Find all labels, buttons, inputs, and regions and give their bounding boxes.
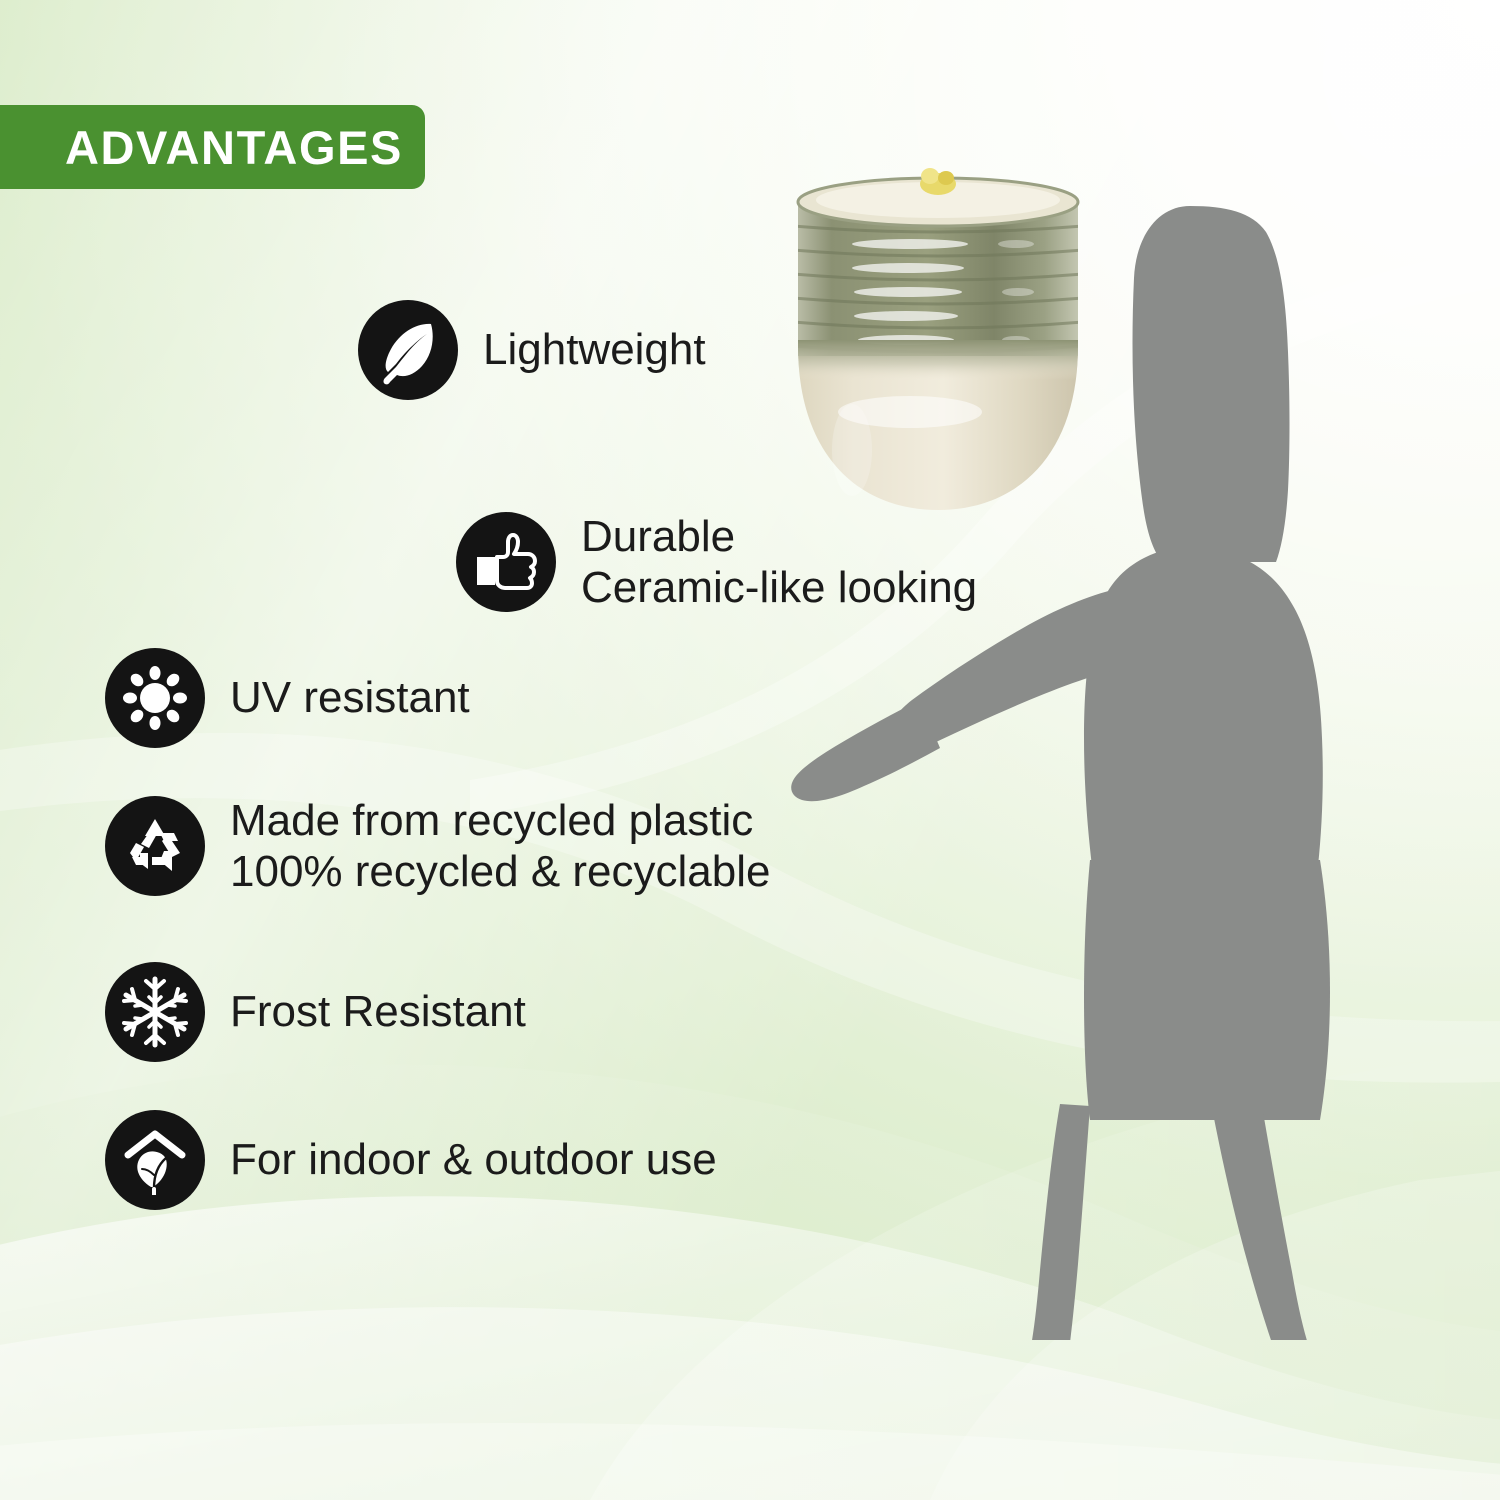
product-scene	[760, 160, 1500, 1340]
feature-label: Durable Ceramic-like looking	[581, 511, 977, 613]
feature-row-lightweight: Lightweight	[358, 300, 706, 400]
feature-row-frost: Frost Resistant	[105, 962, 526, 1062]
planter-pot	[794, 168, 1082, 510]
pot-flower-accent	[920, 168, 956, 195]
feature-label: Lightweight	[483, 324, 706, 375]
feature-label: UV resistant	[230, 672, 470, 723]
feature-label: For indoor & outdoor use	[230, 1134, 717, 1185]
infographic-canvas: ADVANTAGES	[0, 0, 1500, 1500]
banner-title: ADVANTAGES	[65, 124, 403, 171]
feature-row-indoor-outdoor: For indoor & outdoor use	[105, 1110, 717, 1210]
feature-row-uv-resistant: UV resistant	[105, 648, 470, 748]
thumbs-up-icon	[456, 512, 556, 612]
feature-row-durable: Durable Ceramic-like looking	[456, 511, 977, 613]
feather-icon	[358, 300, 458, 400]
advantages-banner: ADVANTAGES	[0, 105, 425, 189]
recycle-icon	[105, 796, 205, 896]
feature-label: Frost Resistant	[230, 986, 526, 1037]
house-leaf-icon	[105, 1110, 205, 1210]
feature-label: Made from recycled plastic 100% recycled…	[230, 795, 770, 897]
sun-icon	[105, 648, 205, 748]
snowflake-icon	[105, 962, 205, 1062]
feature-row-recycled: Made from recycled plastic 100% recycled…	[105, 795, 770, 897]
